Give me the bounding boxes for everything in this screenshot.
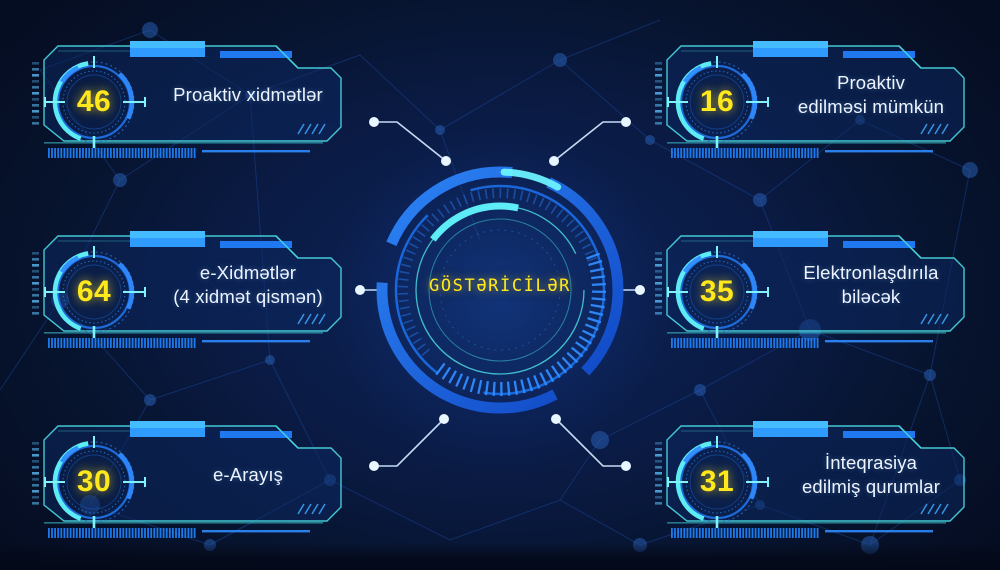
metric-card-e-xidmetler[interactable]: 64 e-Xidmətlər (4 xidmət qismən) bbox=[30, 228, 355, 353]
metric-label-line: İnteqrasiya bbox=[825, 451, 917, 475]
bottom-fade bbox=[0, 542, 1000, 570]
metric-label-line: Proaktiv xidmətlər bbox=[173, 83, 323, 107]
metric-label-line: edilməsi mümkün bbox=[798, 95, 944, 119]
metric-value: 46 bbox=[52, 60, 136, 144]
metric-value: 30 bbox=[52, 440, 136, 524]
metric-card-e-arayis[interactable]: 30 e-Arayış bbox=[30, 418, 355, 543]
metric-label-line: biləcək bbox=[842, 285, 901, 309]
metric-label-line: Proaktiv bbox=[837, 71, 905, 95]
metric-label-line: e-Arayış bbox=[213, 463, 283, 487]
metric-label-line: e-Xidmətlər bbox=[200, 261, 296, 285]
metric-value: 16 bbox=[675, 60, 759, 144]
metric-value: 64 bbox=[52, 250, 136, 334]
metric-label-line: (4 xidmət qismən) bbox=[173, 285, 323, 309]
metric-value: 35 bbox=[675, 250, 759, 334]
metric-label-line: Elektronlaşdırıla bbox=[803, 261, 938, 285]
metric-label: Proaktiv edilməsi mümkün bbox=[771, 50, 971, 140]
metric-card-elektronlasdirila-bilecek[interactable]: 35 Elektronlaşdırıla biləcək bbox=[653, 228, 978, 353]
metric-card-proaktiv-xidmetler[interactable]: 46 Proaktiv xidmətlər bbox=[30, 38, 355, 163]
metric-label: e-Arayış bbox=[148, 430, 348, 520]
metric-label: Elektronlaşdırıla biləcək bbox=[771, 240, 971, 330]
metric-label: e-Xidmətlər (4 xidmət qismən) bbox=[148, 240, 348, 330]
metric-label-line: edilmiş qurumlar bbox=[802, 475, 940, 499]
metric-card-proaktiv-edilmesi-mumkun[interactable]: 16 Proaktiv edilməsi mümkün bbox=[653, 38, 978, 163]
metric-label: Proaktiv xidmətlər bbox=[148, 50, 348, 140]
metric-value: 31 bbox=[675, 440, 759, 524]
metric-label: İnteqrasiya edilmiş qurumlar bbox=[771, 430, 971, 520]
infographic-canvas: GÖSTƏRİCİLƏR 46 Proaktiv xidmətlər 64 e-… bbox=[0, 0, 1000, 570]
metric-card-inteqrasiya-edilmis-qurumlar[interactable]: 31 İnteqrasiya edilmiş qurumlar bbox=[653, 418, 978, 543]
hub-label: GÖSTƏRİCİLƏR bbox=[374, 276, 626, 296]
